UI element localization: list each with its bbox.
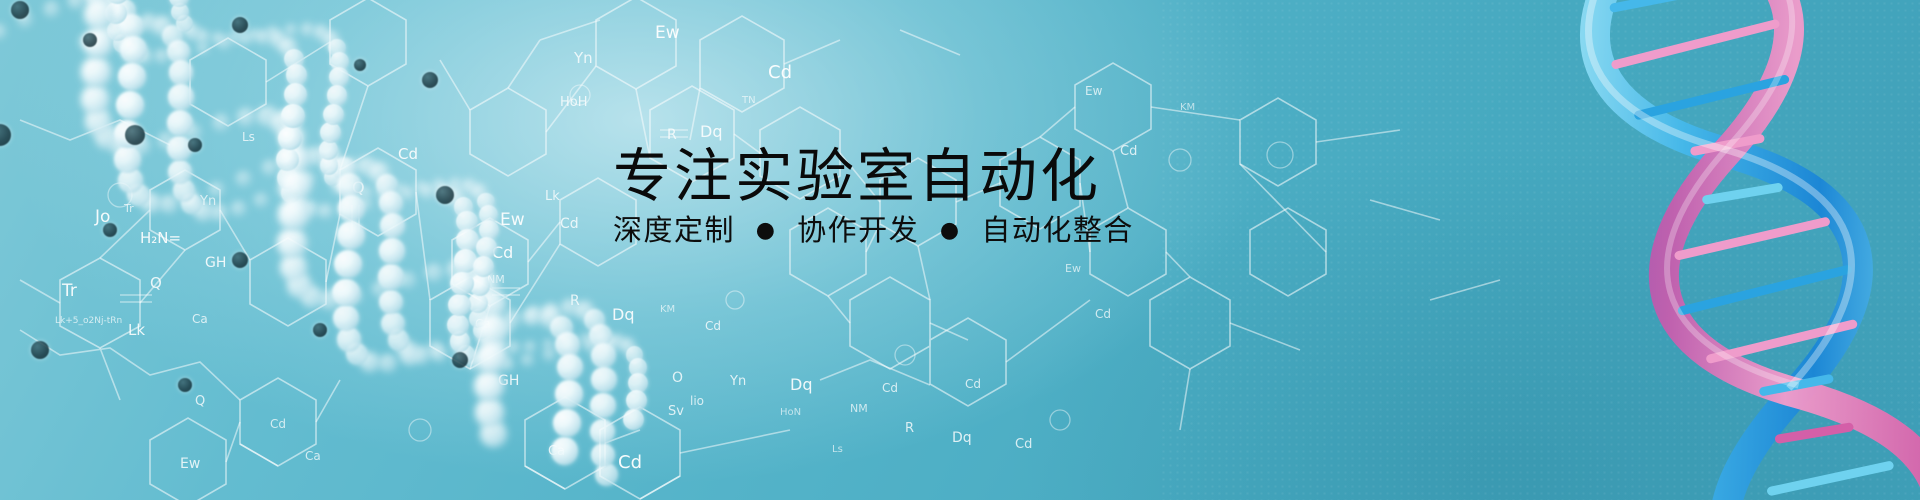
molecule-bead [379, 354, 397, 372]
molecule-bead-dark [232, 252, 248, 268]
molecule-bead [254, 193, 268, 207]
molecule-bead [623, 409, 644, 430]
molecule-bead [329, 67, 349, 87]
molecule-bead [167, 110, 193, 136]
molecule-bead [468, 293, 488, 313]
molecule-bead-dark [178, 378, 192, 392]
molecule-bead [553, 409, 581, 437]
molecule-bead [591, 443, 615, 467]
molecule-bead [114, 146, 140, 172]
molecule-bead-dark [103, 223, 117, 237]
molecule-bead [380, 213, 405, 238]
molecule-bead [557, 354, 584, 381]
molecule-bead [476, 237, 497, 258]
molecule-bead [81, 85, 110, 114]
molecule-bead [213, 114, 230, 131]
molecule-bead [168, 84, 194, 110]
molecule-bead [284, 83, 307, 106]
molecule-bead [543, 348, 555, 360]
molecule-bead-dark [125, 125, 145, 145]
molecule-bead [420, 184, 434, 198]
molecule-bead [555, 380, 583, 408]
molecule-bead-dark [83, 33, 97, 47]
molecule-bead [116, 91, 144, 119]
molecule-bead [276, 148, 299, 171]
molecule-bead [281, 104, 304, 127]
molecule-bead [318, 204, 332, 218]
molecule-bead [591, 343, 616, 368]
molecule-bead [277, 228, 307, 258]
molecule-bead [120, 36, 147, 63]
molecule-bead [379, 238, 405, 264]
molecule-bead [278, 127, 301, 150]
molecule-bead [338, 195, 365, 222]
molecule-bead [447, 314, 469, 336]
hero-banner: EwYnCdTNHoHDqRLsCdQYnJoTrEwCdH₂N=LkGHTrQ… [0, 0, 1920, 500]
molecule-bead [476, 342, 506, 372]
molecule-bead [256, 30, 271, 45]
molecule-bead [456, 229, 478, 251]
molecule-bead [431, 346, 447, 362]
molecule-bead [591, 367, 616, 392]
molecule-bead-dark [31, 341, 49, 359]
molecule-bead [169, 60, 194, 85]
molecule-bead [327, 85, 348, 106]
molecule-bead [236, 171, 251, 186]
molecule-bead [507, 341, 520, 354]
molecule-bead [262, 160, 277, 175]
molecule-bead-dark [354, 59, 366, 71]
molecule-bead-dark [188, 138, 202, 152]
molecule-bead [337, 221, 365, 249]
molecule-bead [425, 264, 442, 281]
molecule-bead [320, 122, 341, 143]
molecule-bead [543, 339, 554, 350]
molecule-bead [118, 63, 146, 91]
molecule-bead [474, 371, 504, 401]
molecule-bead [448, 294, 471, 317]
molecule-bead-dark [452, 352, 468, 368]
molecule-bead [378, 264, 404, 290]
molecule-bead [81, 57, 111, 87]
molecule-bead-dark [0, 124, 11, 146]
molecule-bead [590, 393, 616, 419]
molecule-bead [379, 290, 404, 315]
molecule-bead-dark [11, 1, 29, 19]
molecule-bead [278, 199, 308, 229]
dna-color-helix [1320, 0, 1920, 500]
molecule-bead [473, 256, 494, 277]
molecule-bead [84, 0, 113, 29]
molecule-bead [379, 191, 403, 215]
molecule-bead [332, 279, 360, 307]
molecule-bead [285, 24, 297, 36]
molecule-bead [337, 327, 361, 351]
molecule-bead-dark [422, 72, 438, 88]
molecule-bead [450, 272, 473, 295]
molecule-bead [301, 23, 314, 36]
dna-beaded-helix [0, 0, 660, 500]
molecule-bead [231, 201, 246, 216]
molecule-bead [626, 390, 647, 411]
molecule-bead-dark [232, 17, 248, 33]
molecule-bead [197, 42, 209, 54]
molecule-bead [590, 419, 615, 444]
molecule-bead [44, 1, 59, 16]
molecule-bead [239, 32, 252, 45]
molecule-bead [333, 305, 359, 331]
molecule-bead [323, 104, 344, 125]
molecule-bead-dark [436, 186, 454, 204]
molecule-bead [281, 170, 311, 200]
molecule-bead-dark [313, 323, 327, 337]
molecule-bead [475, 398, 503, 426]
molecule-bead [521, 354, 534, 367]
molecule-bead [334, 250, 362, 278]
molecule-bead [381, 312, 404, 335]
molecule-bead [478, 314, 508, 344]
molecule-bead [209, 182, 224, 197]
molecule-bead [168, 160, 192, 184]
molecule-bead [0, 24, 6, 39]
molecule-bead [402, 187, 415, 200]
molecule-bead [551, 437, 579, 465]
molecule-bead [237, 108, 255, 126]
molecule-bead [524, 341, 536, 353]
molecule-bead [68, 0, 85, 9]
molecule-bead [211, 204, 228, 221]
